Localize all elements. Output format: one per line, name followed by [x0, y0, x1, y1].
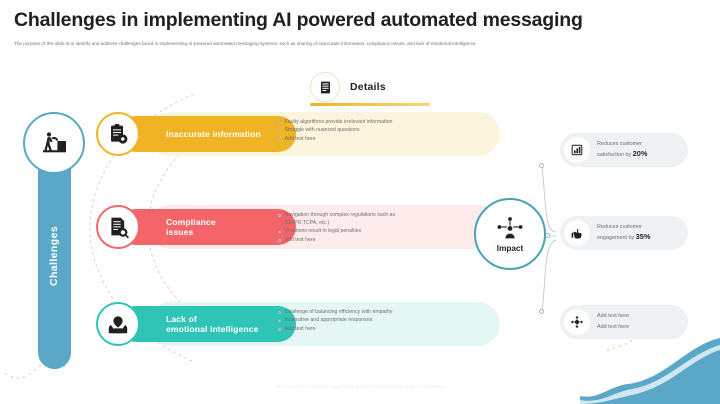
row-3-pill-label-wrap: Lack of emotional intelligence — [118, 306, 296, 342]
connector-node-top — [539, 163, 544, 168]
row-1-bullets: Faulty algorithms provide irrelevant inf… — [272, 114, 462, 149]
network-person-icon — [496, 216, 524, 242]
impact-card-1-text: Reduces customer satisfaction by 20% — [597, 140, 647, 160]
row-2-label: Compliance issues — [166, 217, 216, 238]
document-icon — [318, 80, 333, 95]
bullet-text: Violations result in legal penalties — [285, 228, 362, 236]
details-icon-circle — [310, 72, 340, 102]
bullet-dot-icon — [278, 231, 281, 234]
bullet-dot-icon — [278, 328, 281, 331]
impact-card-2-text: Reduces customer engagement by 35% — [597, 223, 650, 243]
bullet-dot-icon — [278, 311, 281, 314]
challenges-icon-circle — [23, 112, 85, 174]
bullet-text: Add text here — [285, 326, 316, 334]
connector-node-bottom — [539, 309, 544, 314]
page-subtitle: The purpose of this slide is to identify… — [14, 41, 706, 47]
bullet-text: Struggle with nuanced questions — [285, 127, 360, 135]
challenges-label: Challenges — [49, 226, 61, 286]
impact-label: Impact — [497, 244, 523, 253]
impact-card-3-text: Add text here Add text here — [597, 312, 629, 332]
bar-chart-icon — [570, 143, 584, 157]
engagement-hand-icon — [570, 226, 584, 240]
row-3-icon-circle — [96, 302, 140, 346]
row-3-label: Lack of emotional intelligence — [166, 314, 258, 335]
row-2-bullets: Navigation through complex regulations s… — [272, 207, 462, 250]
bullet-dot-icon — [278, 320, 281, 323]
bullet-text: Insensitive and appropriate responses — [285, 317, 373, 325]
impact-card-1[interactable]: Reduces customer satisfaction by 20% — [560, 133, 688, 167]
heart-hands-icon — [106, 312, 130, 336]
impact-circle[interactable]: Impact — [474, 198, 546, 270]
expand-arrows-icon — [570, 315, 584, 329]
row-3-bullets: Challenge of balancing efficiency with e… — [272, 304, 462, 339]
bullet-item: Insensitive and appropriate responses — [278, 317, 454, 325]
bullet-item: Navigation through complex regulations s… — [278, 212, 454, 228]
bullet-item: Struggle with nuanced questions — [278, 127, 454, 135]
bullet-text: Add text here — [285, 237, 316, 245]
bullet-item: Challenge of balancing efficiency with e… — [278, 309, 454, 317]
climbing-obstacle-icon — [39, 128, 69, 158]
bullet-dot-icon — [278, 138, 281, 141]
impact-card-3-prefix: Add text here Add text here — [597, 313, 629, 330]
row-1-icon-circle — [96, 112, 140, 156]
document-lock-icon — [106, 215, 130, 239]
impact-card-3-icon-circle — [564, 309, 590, 335]
bullet-text: Add text here — [285, 136, 316, 144]
impact-card-2[interactable]: Reduces customer engagement by 35% — [560, 216, 688, 250]
bullet-dot-icon — [278, 239, 281, 242]
bullet-dot-icon — [278, 214, 281, 217]
bullet-item: Violations result in legal penalties — [278, 228, 454, 236]
impact-card-1-value: 20% — [633, 149, 648, 158]
challenges-label-wrap: Challenges — [38, 143, 71, 369]
bullet-text: Faulty algorithms provide irrelevant inf… — [285, 119, 393, 127]
impact-card-3[interactable]: Add text here Add text here — [560, 305, 688, 339]
impact-card-1-icon-circle — [564, 137, 590, 163]
page-title: Challenges in implementing AI powered au… — [14, 9, 583, 32]
row-1-pill-label-wrap: Inaccurate information — [118, 116, 296, 152]
bullet-text: Navigation through complex regulations s… — [285, 212, 395, 228]
bullet-item: Add text here — [278, 237, 454, 245]
row-2-icon-circle — [96, 205, 140, 249]
bullet-text: Challenge of balancing efficiency with e… — [285, 309, 393, 317]
slide-canvas: Challenges in implementing AI powered au… — [0, 0, 720, 404]
details-underline — [310, 103, 430, 106]
impact-card-2-value: 35% — [636, 232, 651, 241]
footer-note: This slide is 100% editable. Adapt it to… — [0, 384, 720, 389]
clipboard-gear-icon — [106, 122, 130, 146]
bullet-item: Add text here — [278, 326, 454, 334]
bullet-item: Add text here — [278, 136, 454, 144]
bullet-dot-icon — [278, 130, 281, 133]
bullet-dot-icon — [278, 121, 281, 124]
row-2-pill-label-wrap: Compliance issues — [118, 209, 296, 245]
impact-card-2-icon-circle — [564, 220, 590, 246]
details-header: Details — [310, 72, 386, 102]
row-1-label: Inaccurate information — [166, 129, 261, 139]
details-label: Details — [350, 81, 386, 93]
bullet-item: Faulty algorithms provide irrelevant inf… — [278, 119, 454, 127]
